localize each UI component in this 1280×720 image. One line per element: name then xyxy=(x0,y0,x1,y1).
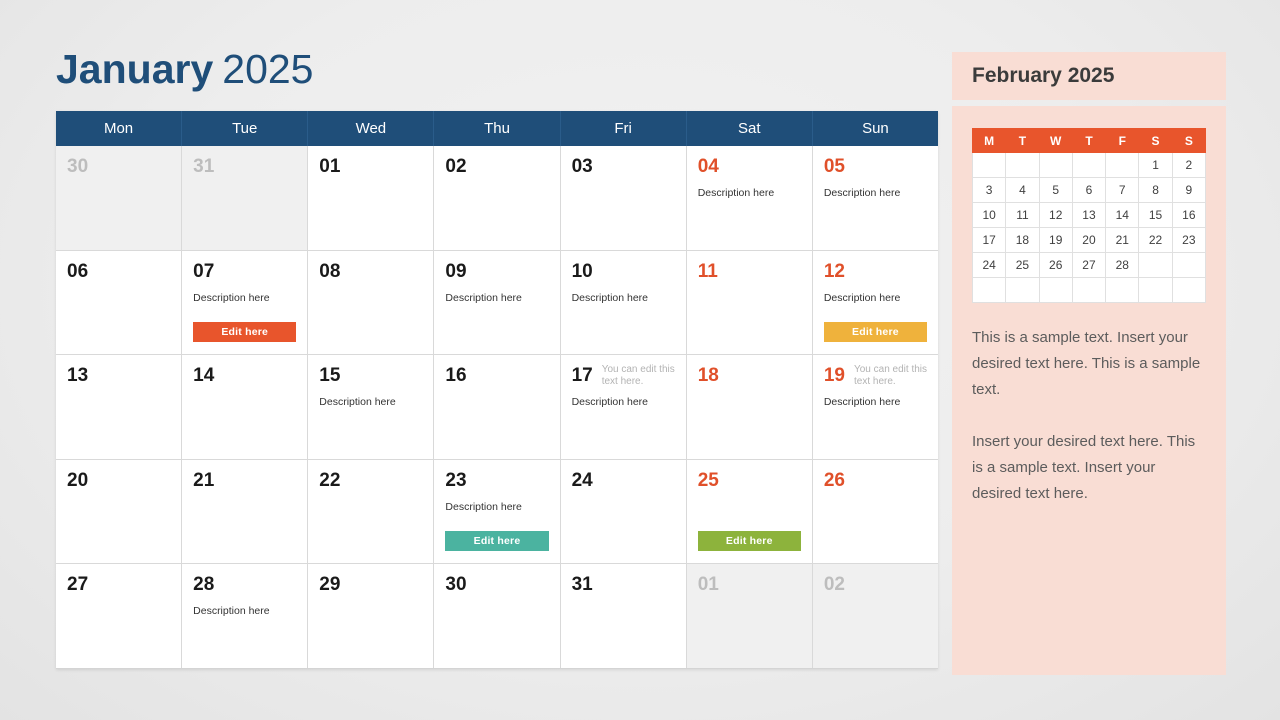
day-number: 12 xyxy=(824,261,927,283)
page-title: January2025 xyxy=(56,42,313,96)
day-number: 31 xyxy=(193,156,296,178)
day-cell-06[interactable]: 06 xyxy=(56,251,182,355)
day-number: 10 xyxy=(572,261,675,283)
day-cell-13[interactable]: 13 xyxy=(56,355,182,459)
day-cell-17[interactable]: 17You can edit this text here.Descriptio… xyxy=(561,355,687,459)
day-cell-21[interactable]: 21 xyxy=(182,460,308,564)
day-number: 16 xyxy=(445,365,548,387)
day-cell-20[interactable]: 20 xyxy=(56,460,182,564)
mini-day-6[interactable]: 6 xyxy=(1072,178,1105,203)
day-cell-10[interactable]: 10Description here xyxy=(561,251,687,355)
day-cell-09[interactable]: 09Description here xyxy=(434,251,560,355)
weekday-header-sat: Sat xyxy=(687,111,813,146)
day-cell-19[interactable]: 19You can edit this text here.Descriptio… xyxy=(813,355,938,459)
mini-weekday-3: T xyxy=(1072,129,1105,153)
day-cell-01[interactable]: 01 xyxy=(308,146,434,250)
weekday-header-fri: Fri xyxy=(561,111,687,146)
mini-weekday-6: S xyxy=(1172,129,1205,153)
day-number: 08 xyxy=(319,261,422,283)
day-cell-26[interactable]: 26 xyxy=(813,460,938,564)
mini-day-18[interactable]: 18 xyxy=(1006,228,1039,253)
day-number: 26 xyxy=(824,470,927,492)
calendar-week-row: 131415Description here1617You can edit t… xyxy=(56,355,938,460)
day-number: 14 xyxy=(193,365,296,387)
day-cell-23[interactable]: 23Description hereEdit here xyxy=(434,460,560,564)
edit-here-button-23[interactable]: Edit here xyxy=(445,531,548,551)
day-number: 07 xyxy=(193,261,296,283)
day-number: 06 xyxy=(67,261,170,283)
mini-day-2[interactable]: 2 xyxy=(1172,153,1205,178)
mini-day-16[interactable]: 16 xyxy=(1172,203,1205,228)
calendar-weeks: 303101020304Description here05Descriptio… xyxy=(56,146,938,669)
day-description: Description here xyxy=(193,605,296,618)
mini-calendar-body: 1234567891011121314151617181920212223242… xyxy=(973,153,1206,303)
mini-day-empty xyxy=(1172,253,1205,278)
sidebar-title: February 2025 xyxy=(972,64,1114,88)
day-description: Description here xyxy=(824,187,927,200)
mini-day-28[interactable]: 28 xyxy=(1106,253,1139,278)
day-number: 28 xyxy=(193,574,296,596)
mini-calendar-header-row: MTWTFSS xyxy=(973,129,1206,153)
mini-day-7[interactable]: 7 xyxy=(1106,178,1139,203)
sidebar-paragraph-2: Insert your desired text here. This is a… xyxy=(972,429,1206,507)
mini-calendar-row: 12 xyxy=(973,153,1206,178)
mini-day-empty xyxy=(1006,278,1039,303)
calendar-week-row: 0607Description hereEdit here0809Descrip… xyxy=(56,251,938,356)
day-number: 29 xyxy=(319,574,422,596)
calendar-week-row: 20212223Description hereEdit here2425Edi… xyxy=(56,460,938,565)
day-number: 11 xyxy=(698,261,801,283)
day-cell-22[interactable]: 22 xyxy=(308,460,434,564)
edit-here-button-25[interactable]: Edit here xyxy=(698,531,801,551)
day-number: 13 xyxy=(67,365,170,387)
mini-day-8[interactable]: 8 xyxy=(1139,178,1172,203)
day-cell-15[interactable]: 15Description here xyxy=(308,355,434,459)
page-title-month: January xyxy=(56,46,213,92)
day-cell-05[interactable]: 05Description here xyxy=(813,146,938,250)
mini-day-10[interactable]: 10 xyxy=(973,203,1006,228)
day-description: Description here xyxy=(572,292,675,305)
day-cell-30[interactable]: 30 xyxy=(56,146,182,250)
day-number: 22 xyxy=(319,470,422,492)
day-cell-14[interactable]: 14 xyxy=(182,355,308,459)
mini-day-empty xyxy=(1006,153,1039,178)
day-cell-29[interactable]: 29 xyxy=(308,564,434,668)
sidebar-body: MTWTFSS 12345678910111213141516171819202… xyxy=(952,106,1226,675)
day-cell-25[interactable]: 25Edit here xyxy=(687,460,813,564)
mini-calendar-row xyxy=(973,278,1206,303)
mini-day-15[interactable]: 15 xyxy=(1139,203,1172,228)
day-number: 27 xyxy=(67,574,170,596)
weekday-header-mon: Mon xyxy=(56,111,182,146)
day-number: 02 xyxy=(445,156,548,178)
mini-day-14[interactable]: 14 xyxy=(1106,203,1139,228)
day-description: Description here xyxy=(445,501,548,514)
mini-weekday-0: M xyxy=(973,129,1006,153)
weekday-header-thu: Thu xyxy=(434,111,560,146)
mini-day-empty xyxy=(1106,153,1139,178)
mini-day-empty xyxy=(1172,278,1205,303)
mini-day-27[interactable]: 27 xyxy=(1072,253,1105,278)
mini-weekday-2: W xyxy=(1039,129,1072,153)
day-note: You can edit this text here. xyxy=(854,364,928,388)
day-cell-31[interactable]: 31 xyxy=(561,564,687,668)
day-number: 30 xyxy=(67,156,170,178)
day-number: 04 xyxy=(698,156,801,178)
day-cell-30[interactable]: 30 xyxy=(434,564,560,668)
day-number: 24 xyxy=(572,470,675,492)
mini-day-5[interactable]: 5 xyxy=(1039,178,1072,203)
mini-calendar-row: 3456789 xyxy=(973,178,1206,203)
day-description: Description here xyxy=(193,292,296,305)
day-description: Description here xyxy=(319,396,422,409)
mini-calendar-row: 17181920212223 xyxy=(973,228,1206,253)
mini-day-25[interactable]: 25 xyxy=(1006,253,1039,278)
mini-calendar-row: 2425262728 xyxy=(973,253,1206,278)
mini-day-4[interactable]: 4 xyxy=(1006,178,1039,203)
mini-day-empty xyxy=(1139,253,1172,278)
weekday-header-wed: Wed xyxy=(308,111,434,146)
day-number: 05 xyxy=(824,156,927,178)
day-description: Description here xyxy=(824,396,927,409)
mini-day-20[interactable]: 20 xyxy=(1072,228,1105,253)
mini-day-empty xyxy=(1072,278,1105,303)
mini-day-empty xyxy=(973,153,1006,178)
day-cell-04[interactable]: 04Description here xyxy=(687,146,813,250)
day-cell-01[interactable]: 01 xyxy=(687,564,813,668)
day-description: Description here xyxy=(572,396,675,409)
day-cell-08[interactable]: 08 xyxy=(308,251,434,355)
mini-day-13[interactable]: 13 xyxy=(1072,203,1105,228)
sidebar: February 2025 MTWTFSS 123456789101112131… xyxy=(952,52,1226,669)
mini-day-3[interactable]: 3 xyxy=(973,178,1006,203)
edit-here-button-12[interactable]: Edit here xyxy=(824,322,927,342)
day-cell-27[interactable]: 27 xyxy=(56,564,182,668)
mini-calendar-row: 10111213141516 xyxy=(973,203,1206,228)
mini-day-11[interactable]: 11 xyxy=(1006,203,1039,228)
mini-day-26[interactable]: 26 xyxy=(1039,253,1072,278)
mini-day-empty xyxy=(1072,153,1105,178)
day-cell-18[interactable]: 18 xyxy=(687,355,813,459)
weekday-header-row: MonTueWedThuFriSatSun xyxy=(56,111,938,146)
mini-calendar: MTWTFSS 12345678910111213141516171819202… xyxy=(972,128,1206,303)
day-cell-12[interactable]: 12Description hereEdit here xyxy=(813,251,938,355)
mini-day-21[interactable]: 21 xyxy=(1106,228,1139,253)
day-cell-02[interactable]: 02 xyxy=(434,146,560,250)
day-number: 09 xyxy=(445,261,548,283)
day-description: Description here xyxy=(824,292,927,305)
page-title-year: 2025 xyxy=(222,46,313,92)
mini-weekday-5: S xyxy=(1139,129,1172,153)
day-number: 15 xyxy=(319,365,422,387)
edit-here-button-07[interactable]: Edit here xyxy=(193,322,296,342)
sidebar-paragraph-1: This is a sample text. Insert your desir… xyxy=(972,325,1206,403)
mini-day-12[interactable]: 12 xyxy=(1039,203,1072,228)
sidebar-title-bar: February 2025 xyxy=(952,52,1226,100)
day-note: You can edit this text here. xyxy=(602,364,676,388)
mini-day-empty xyxy=(1039,278,1072,303)
day-number: 18 xyxy=(698,365,801,387)
day-cell-31[interactable]: 31 xyxy=(182,146,308,250)
day-number: 25 xyxy=(698,470,801,492)
day-number: 21 xyxy=(193,470,296,492)
day-number: 03 xyxy=(572,156,675,178)
sidebar-text-block: This is a sample text. Insert your desir… xyxy=(972,325,1206,507)
day-description: Description here xyxy=(698,187,801,200)
day-cell-02[interactable]: 02 xyxy=(813,564,938,668)
day-number: 01 xyxy=(319,156,422,178)
day-description: Description here xyxy=(445,292,548,305)
mini-day-1[interactable]: 1 xyxy=(1139,153,1172,178)
mini-day-17[interactable]: 17 xyxy=(973,228,1006,253)
mini-weekday-4: F xyxy=(1106,129,1139,153)
calendar-week-row: 303101020304Description here05Descriptio… xyxy=(56,146,938,251)
mini-day-empty xyxy=(1106,278,1139,303)
day-cell-28[interactable]: 28Description here xyxy=(182,564,308,668)
mini-day-19[interactable]: 19 xyxy=(1039,228,1072,253)
mini-day-empty xyxy=(1139,278,1172,303)
day-number: 20 xyxy=(67,470,170,492)
mini-day-24[interactable]: 24 xyxy=(973,253,1006,278)
day-cell-07[interactable]: 07Description hereEdit here xyxy=(182,251,308,355)
mini-day-empty xyxy=(1039,153,1072,178)
day-number: 23 xyxy=(445,470,548,492)
weekday-header-tue: Tue xyxy=(182,111,308,146)
day-number: 30 xyxy=(445,574,548,596)
day-cell-16[interactable]: 16 xyxy=(434,355,560,459)
mini-day-empty xyxy=(973,278,1006,303)
mini-day-23[interactable]: 23 xyxy=(1172,228,1205,253)
day-cell-11[interactable]: 11 xyxy=(687,251,813,355)
day-number: 01 xyxy=(698,574,801,596)
day-cell-24[interactable]: 24 xyxy=(561,460,687,564)
mini-day-9[interactable]: 9 xyxy=(1172,178,1205,203)
day-number: 02 xyxy=(824,574,927,596)
calendar-week-row: 2728Description here2930310102 xyxy=(56,564,938,669)
day-cell-03[interactable]: 03 xyxy=(561,146,687,250)
mini-day-22[interactable]: 22 xyxy=(1139,228,1172,253)
weekday-header-sun: Sun xyxy=(813,111,938,146)
mini-weekday-1: T xyxy=(1006,129,1039,153)
month-calendar: MonTueWedThuFriSatSun 303101020304Descri… xyxy=(56,111,938,669)
day-number: 31 xyxy=(572,574,675,596)
